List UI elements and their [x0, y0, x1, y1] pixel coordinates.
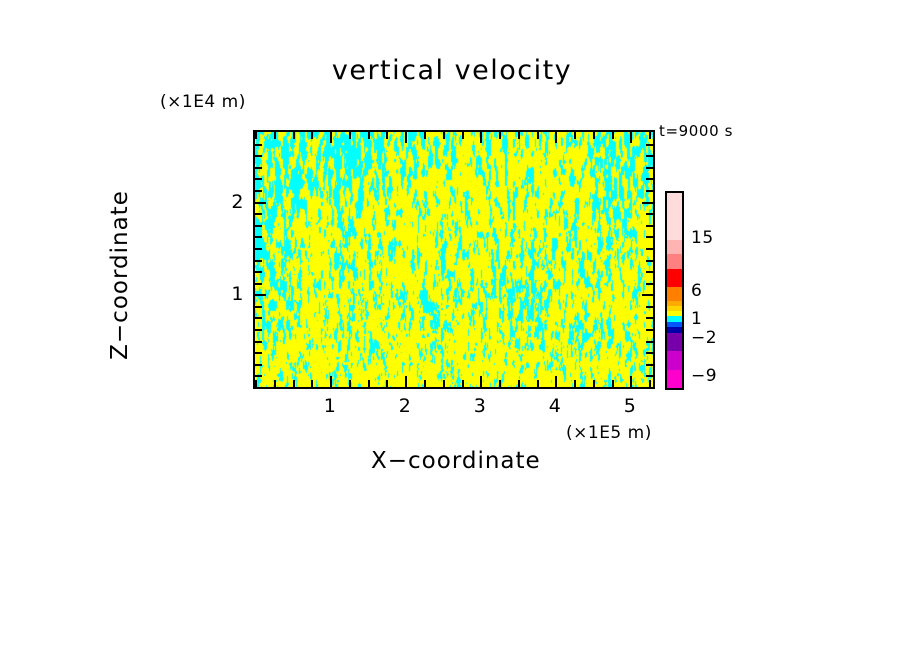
- y-tick: [255, 213, 262, 215]
- y-tick-right: [646, 213, 653, 215]
- y-tick-right: [646, 144, 653, 146]
- x-tick: [518, 380, 520, 387]
- y-tick-right: [646, 155, 653, 157]
- y-tick-right: [646, 283, 653, 285]
- x-tick-top: [480, 132, 482, 143]
- x-tick: [649, 380, 651, 387]
- y-tick: [255, 283, 262, 285]
- y-tick: [255, 375, 262, 377]
- y-tick-right: [646, 178, 653, 180]
- x-tick-top: [255, 132, 257, 139]
- x-axis-unit-label: (×1E5 m): [566, 423, 652, 443]
- x-tick: [386, 380, 388, 387]
- y-tick: [255, 236, 262, 238]
- x-tick: [424, 380, 426, 387]
- y-tick: [255, 271, 262, 273]
- y-tick: [255, 167, 262, 169]
- x-tick-top: [274, 132, 276, 139]
- x-tick-top: [612, 132, 614, 139]
- y-tick: [255, 260, 262, 262]
- y-tick-right: [646, 329, 653, 331]
- y-tick: [255, 248, 262, 250]
- y-tick-right: [642, 202, 653, 204]
- y-tick-right: [646, 236, 653, 238]
- colorbar-band-0: [667, 193, 682, 240]
- y-tick-right: [646, 190, 653, 192]
- y-tick-right: [646, 352, 653, 354]
- x-tick-top: [518, 132, 520, 139]
- y-tick-label: 2: [222, 191, 244, 213]
- y-tick-right: [642, 294, 653, 296]
- x-tick-top: [386, 132, 388, 139]
- colorbar: [665, 191, 684, 390]
- y-tick: [255, 190, 262, 192]
- x-tick: [462, 380, 464, 387]
- x-tick: [330, 376, 332, 387]
- x-tick: [480, 376, 482, 387]
- y-tick-label: 1: [222, 283, 244, 305]
- x-tick: [368, 380, 370, 387]
- colorbar-tick-label: 6: [691, 281, 702, 301]
- x-tick: [293, 380, 295, 387]
- y-tick-right: [646, 341, 653, 343]
- colorbar-tick-label: −9: [691, 366, 717, 386]
- velocity-field-heatmap: [255, 132, 653, 387]
- colorbar-band-12: [667, 351, 682, 369]
- y-tick: [255, 364, 262, 366]
- y-tick-right: [646, 271, 653, 273]
- x-tick: [630, 376, 632, 387]
- x-tick: [574, 380, 576, 387]
- y-tick: [255, 341, 262, 343]
- x-tick-top: [462, 132, 464, 139]
- x-tick-top: [330, 132, 332, 143]
- colorbar-tick-label: −2: [691, 328, 717, 348]
- x-tick: [443, 380, 445, 387]
- time-annotation: t=9000 s: [659, 122, 733, 140]
- x-tick-top: [574, 132, 576, 139]
- plot-area: [253, 130, 655, 389]
- x-tick-top: [311, 132, 313, 139]
- x-tick: [274, 380, 276, 387]
- x-tick-top: [405, 132, 407, 143]
- x-tick-top: [293, 132, 295, 139]
- x-tick: [349, 380, 351, 387]
- y-axis-title: Z−coordinate: [107, 145, 133, 405]
- colorbar-band-4: [667, 287, 682, 301]
- y-tick: [255, 352, 262, 354]
- colorbar-band-3: [667, 269, 682, 287]
- x-axis-title: X−coordinate: [371, 448, 541, 474]
- x-tick-top: [593, 132, 595, 139]
- y-tick: [255, 202, 266, 204]
- y-tick-right: [646, 306, 653, 308]
- y-axis-unit-label: (×1E4 m): [160, 92, 246, 112]
- x-tick-top: [555, 132, 557, 143]
- x-tick-label: 1: [315, 395, 345, 417]
- y-tick-right: [646, 364, 653, 366]
- x-tick-top: [499, 132, 501, 139]
- colorbar-band-13: [667, 370, 682, 388]
- y-tick-right: [646, 260, 653, 262]
- x-tick: [555, 376, 557, 387]
- x-tick-top: [424, 132, 426, 139]
- x-tick-label: 4: [540, 395, 570, 417]
- x-tick-top: [443, 132, 445, 139]
- y-tick-right: [646, 225, 653, 227]
- colorbar-band-1: [667, 240, 682, 254]
- colorbar-band-2: [667, 254, 682, 268]
- y-tick: [255, 317, 262, 319]
- x-tick: [311, 380, 313, 387]
- x-tick: [405, 376, 407, 387]
- x-tick-top: [649, 132, 651, 139]
- x-tick-label: 5: [615, 395, 645, 417]
- y-tick: [255, 306, 262, 308]
- x-tick: [612, 380, 614, 387]
- y-tick-right: [646, 375, 653, 377]
- y-tick: [255, 387, 262, 389]
- y-tick: [255, 329, 262, 331]
- colorbar-tick-label: 15: [691, 228, 714, 248]
- y-tick-right: [646, 167, 653, 169]
- y-tick: [255, 294, 266, 296]
- x-tick: [499, 380, 501, 387]
- y-tick: [255, 144, 262, 146]
- x-tick-label: 2: [390, 395, 420, 417]
- y-tick-right: [646, 317, 653, 319]
- y-tick: [255, 155, 262, 157]
- x-tick-top: [349, 132, 351, 139]
- x-tick-label: 3: [465, 395, 495, 417]
- y-tick-right: [646, 387, 653, 389]
- page-title: vertical velocity: [0, 55, 904, 86]
- x-tick: [255, 380, 257, 387]
- x-tick: [593, 380, 595, 387]
- x-tick-top: [368, 132, 370, 139]
- colorbar-tick-label: 1: [691, 309, 702, 329]
- x-tick-top: [537, 132, 539, 139]
- x-tick: [537, 380, 539, 387]
- x-tick-top: [630, 132, 632, 143]
- y-tick-right: [646, 248, 653, 250]
- colorbar-band-11: [667, 333, 682, 351]
- y-tick: [255, 178, 262, 180]
- y-tick: [255, 225, 262, 227]
